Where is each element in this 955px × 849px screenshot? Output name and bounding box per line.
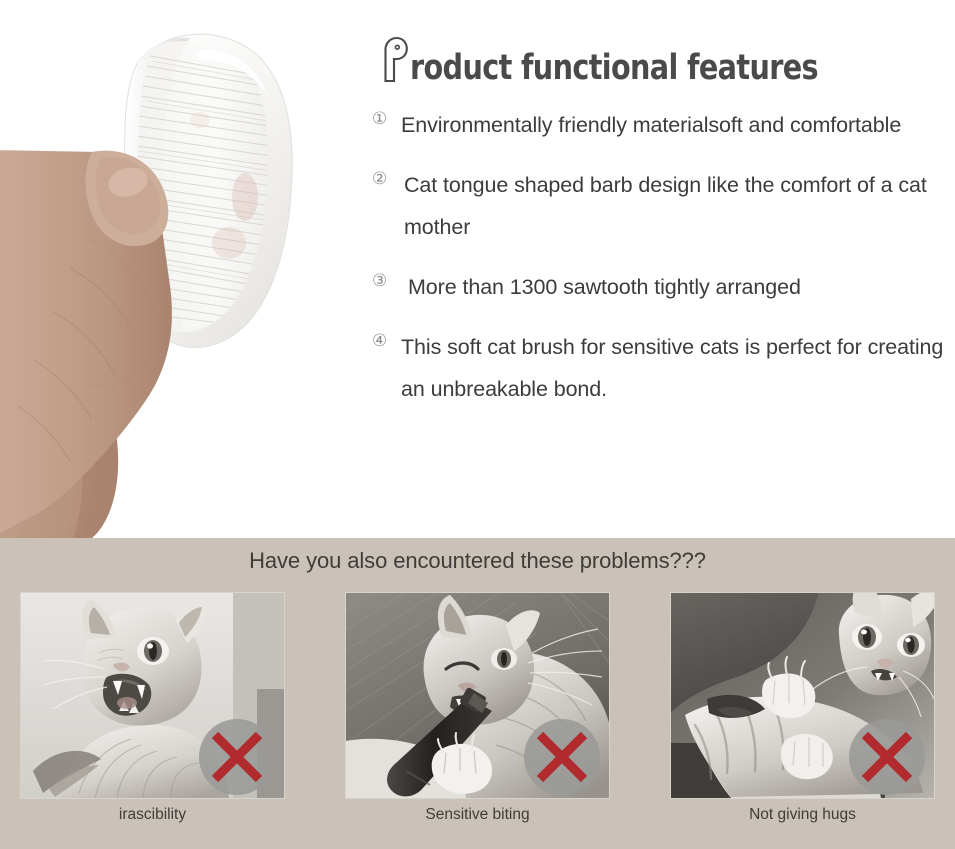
feature-list: ① Environmentally friendly materialsoft … [366, 104, 952, 428]
product-feature-page: roduct functional features ① Environment… [0, 0, 955, 849]
feature-marker-2: ② [372, 164, 399, 194]
feature-text-2: Cat tongue shaped barb design like the c… [399, 164, 952, 248]
feature-item: ④ This soft cat brush for sensitive cats… [366, 326, 952, 410]
feature-text-4: This soft cat brush for sensitive cats i… [399, 326, 952, 410]
red-x-badge [523, 718, 601, 796]
feature-text-1: Environmentally friendly materialsoft an… [399, 104, 952, 146]
problem-card: Sensitive biting [345, 592, 610, 824]
feature-item: ② Cat tongue shaped barb design like the… [366, 164, 952, 248]
product-photo-illustration [0, 0, 352, 538]
problem-caption-2: Sensitive biting [345, 806, 610, 824]
problem-photo-1 [20, 592, 285, 799]
feature-marker-1: ① [372, 104, 399, 134]
feature-text-3: More than 1300 sawtooth tightly arranged [399, 266, 952, 308]
red-x-badge [848, 718, 926, 796]
product-photo [0, 0, 352, 538]
feature-item: ① Environmentally friendly materialsoft … [366, 104, 952, 146]
title-initial-p [382, 36, 409, 83]
product-features-section: roduct functional features ① Environment… [0, 0, 955, 538]
problem-caption-3: Not giving hugs [670, 806, 935, 824]
features-panel: roduct functional features ① Environment… [360, 0, 955, 538]
problem-caption-1: irascibility [20, 806, 285, 824]
problem-photo-3 [670, 592, 935, 799]
problem-cards: irascibility [20, 592, 935, 824]
problem-card: irascibility [20, 592, 285, 824]
page-title-text: roduct functional features [410, 48, 818, 88]
feature-marker-4: ④ [372, 326, 399, 356]
problems-heading: Have you also encountered these problems… [0, 548, 955, 574]
feature-marker-3: ③ [372, 266, 399, 296]
feature-item: ③ More than 1300 sawtooth tightly arrang… [366, 266, 952, 308]
red-x-badge [198, 718, 276, 796]
problem-photo-2 [345, 592, 610, 799]
problem-card: Not giving hugs [670, 592, 935, 824]
page-title: roduct functional features [382, 32, 908, 88]
problems-section: Have you also encountered these problems… [0, 538, 955, 849]
